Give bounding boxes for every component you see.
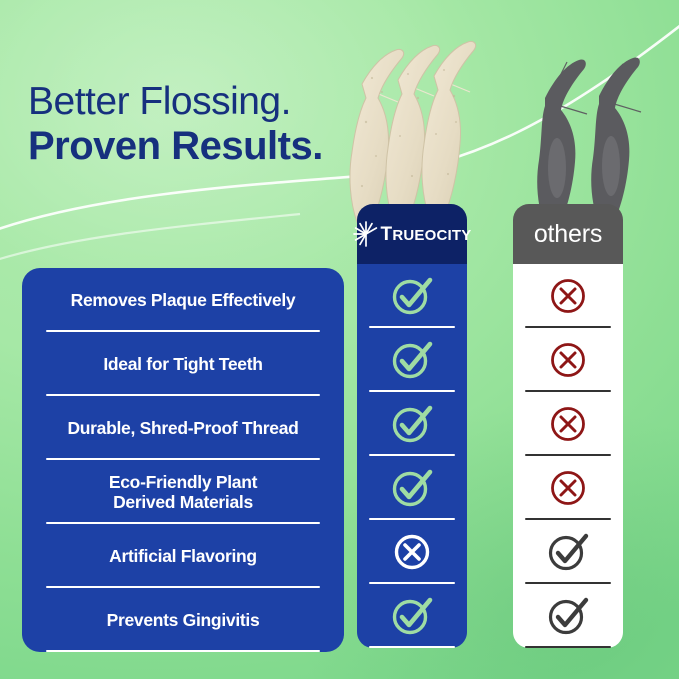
mark-cell bbox=[523, 392, 613, 456]
mark-cell bbox=[367, 584, 457, 648]
mark-cell bbox=[367, 328, 457, 392]
feature-row: Artificial Flavoring bbox=[40, 524, 326, 588]
mark-cell bbox=[367, 392, 457, 456]
cross-icon bbox=[545, 465, 591, 511]
check-icon bbox=[389, 273, 435, 319]
comparison-infographic: Better Flossing. Proven Results. bbox=[0, 0, 679, 679]
feature-label: Ideal for Tight Teeth bbox=[101, 354, 264, 374]
column-trueocity: TRUEOCITY bbox=[357, 204, 467, 648]
feature-label: Prevents Gingivitis bbox=[105, 610, 262, 630]
trueocity-logo: TRUEOCITY bbox=[353, 221, 472, 247]
mark-cell bbox=[367, 264, 457, 328]
check-icon bbox=[545, 593, 591, 639]
column-header-others: others bbox=[513, 204, 623, 264]
feature-row: Removes Plaque Effectively bbox=[40, 268, 326, 332]
feature-label: Durable, Shred-Proof Thread bbox=[65, 418, 300, 438]
page-title: Better Flossing. Proven Results. bbox=[28, 82, 323, 167]
feature-row: Prevents Gingivitis bbox=[40, 588, 326, 652]
mark-cell bbox=[367, 520, 457, 584]
cross-icon bbox=[545, 273, 591, 319]
mark-cell bbox=[523, 456, 613, 520]
starburst-icon bbox=[353, 221, 379, 247]
feature-row: Eco-Friendly Plant Derived Materials bbox=[40, 460, 326, 524]
cross-icon bbox=[389, 529, 435, 575]
column-header-trueocity: TRUEOCITY bbox=[357, 204, 467, 264]
column-body-trueocity bbox=[357, 264, 467, 648]
others-label: others bbox=[534, 220, 602, 249]
trueocity-wordmark: TRUEOCITY bbox=[381, 225, 472, 244]
headline-line-2: Proven Results. bbox=[28, 126, 323, 167]
check-icon bbox=[389, 465, 435, 511]
feature-label: Eco-Friendly Plant Derived Materials bbox=[107, 472, 259, 513]
feature-label: Removes Plaque Effectively bbox=[69, 290, 298, 310]
feature-row: Ideal for Tight Teeth bbox=[40, 332, 326, 396]
cross-icon bbox=[545, 401, 591, 447]
check-icon bbox=[389, 401, 435, 447]
brand-suffix: OCITY bbox=[425, 227, 472, 244]
mark-cell bbox=[523, 520, 613, 584]
check-icon bbox=[545, 529, 591, 575]
mark-cell bbox=[367, 456, 457, 520]
cross-icon bbox=[545, 337, 591, 383]
mark-cell bbox=[523, 264, 613, 328]
features-panel: Removes Plaque Effectively Ideal for Tig… bbox=[22, 268, 344, 652]
column-body-others bbox=[513, 264, 623, 648]
brand-initial: T bbox=[381, 224, 393, 245]
mark-cell bbox=[523, 328, 613, 392]
feature-label: Artificial Flavoring bbox=[107, 546, 259, 566]
feature-row: Durable, Shred-Proof Thread bbox=[40, 396, 326, 460]
check-icon bbox=[389, 337, 435, 383]
check-icon bbox=[389, 593, 435, 639]
headline-line-1: Better Flossing. bbox=[28, 82, 323, 122]
mark-cell bbox=[523, 584, 613, 648]
brand-rest: RUE bbox=[392, 227, 424, 244]
column-others: others bbox=[513, 204, 623, 648]
